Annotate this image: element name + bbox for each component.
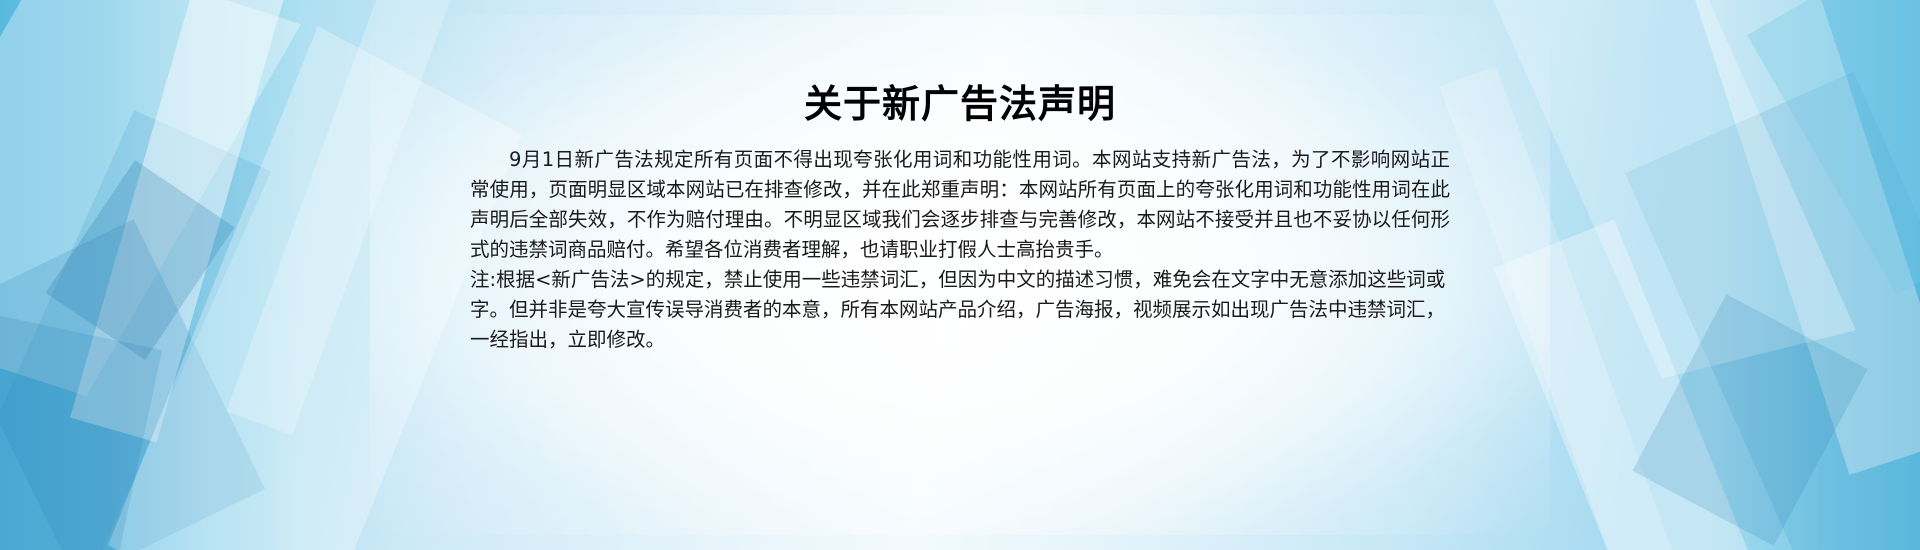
statement-body: 9月1日新广告法规定所有页面不得出现夸张化用词和功能性用词。本网站支持新广告法，… [470, 145, 1450, 355]
banner-stage: 关于新广告法声明 9月1日新广告法规定所有页面不得出现夸张化用词和功能性用词。本… [0, 0, 1920, 550]
statement-content: 关于新广告法声明 9月1日新广告法规定所有页面不得出现夸张化用词和功能性用词。本… [460, 0, 1460, 550]
statement-paragraph-2: 注:根据<新广告法>的规定，禁止使用一些违禁词汇，但因为中文的描述习惯，难免会在… [470, 265, 1450, 355]
right-edge-gradient [1590, 0, 1920, 550]
page-title: 关于新广告法声明 [460, 82, 1460, 128]
statement-paragraph-1: 9月1日新广告法规定所有页面不得出现夸张化用词和功能性用词。本网站支持新广告法，… [470, 145, 1450, 265]
left-edge-gradient [0, 0, 300, 550]
